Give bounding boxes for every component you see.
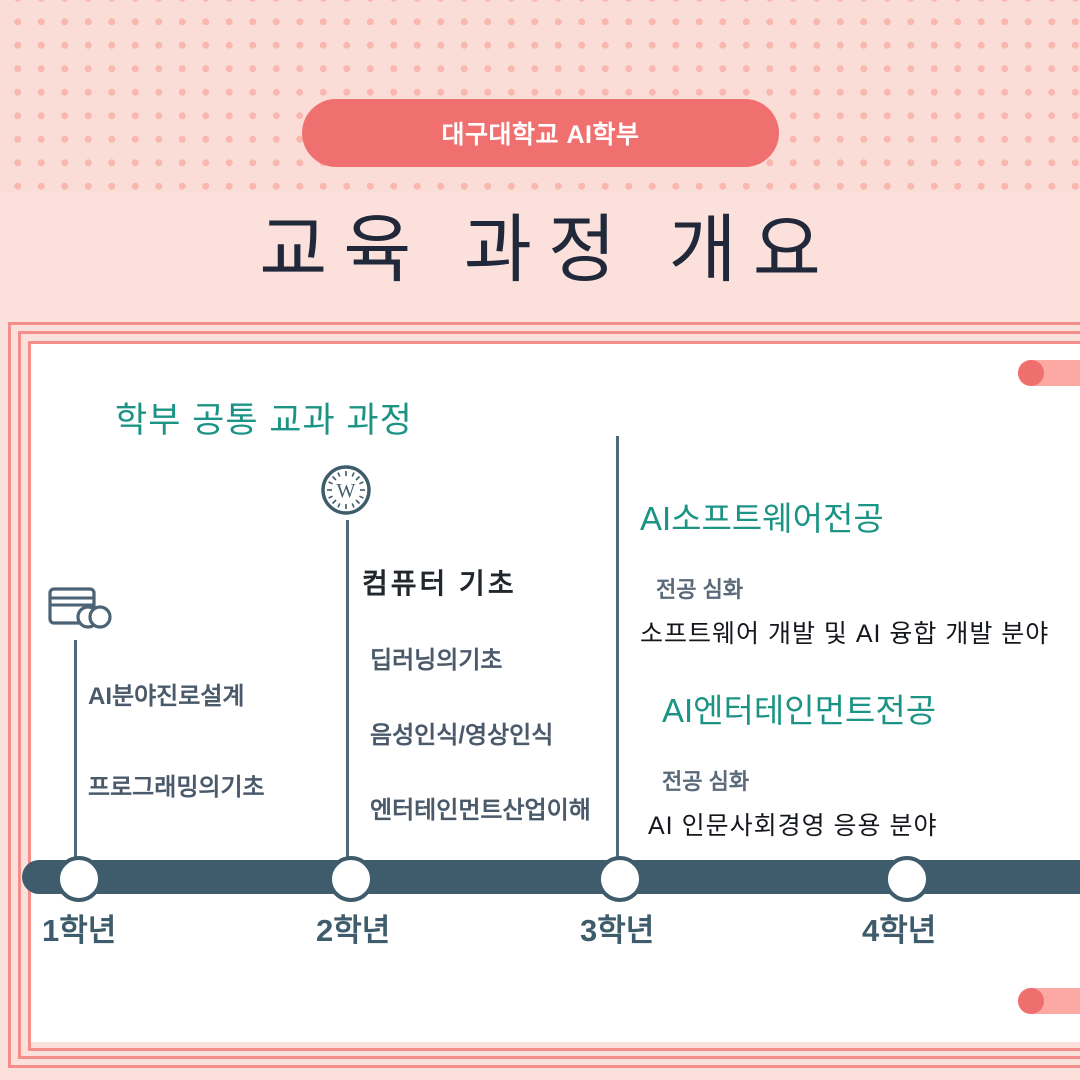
year2-course-item: 음성인식/영상인식 [370,715,591,750]
timeline-year-label: 2학년 [316,905,390,950]
timeline-year-label: 4학년 [862,905,936,950]
decorative-tab-top [1018,360,1080,386]
decorative-tab-bottom [1018,988,1080,1014]
timeline-node-year4[interactable] [884,856,930,902]
decorative-tab-dot-bottom [1018,988,1044,1014]
timeline-node-year3[interactable] [597,856,643,902]
timeline-year-label: 3학년 [580,905,654,950]
department-badge: 대구대학교 AI학부 [302,99,779,167]
major-title: AI소프트웨어전공 [640,492,1049,540]
year2-course-item: 엔터테인먼트산업이해 [370,790,591,825]
major-subtitle: 전공 심화 [662,764,1049,796]
common-curriculum-title: 학부 공통 교과 과정 [115,392,413,443]
timeline-stem-year2 [346,520,349,862]
page-title: 교육 과정 개요 [0,213,1080,287]
year1-course-list: AI분야진로설계 프로그래밍의기초 [88,676,265,858]
timeline-stem-year1 [74,640,77,862]
credit-card-icon [48,585,112,633]
major-tracks: AI소프트웨어전공 전공 심화 소프트웨어 개발 및 AI 융합 개발 분야 A… [640,492,1049,842]
year1-course-item: 프로그래밍의기초 [88,767,265,802]
timeline-node-year2[interactable] [328,856,374,902]
major-description: 소프트웨어 개발 및 AI 융합 개발 분야 [640,614,1049,650]
poster-root: 대구대학교 AI학부 교육 과정 개요 학부 공통 교과 과정 [0,0,1080,1080]
major-block-software: AI소프트웨어전공 전공 심화 소프트웨어 개발 및 AI 융합 개발 분야 [640,492,1049,650]
compass-letter: W [337,480,356,502]
timeline-stem-year3 [616,436,619,860]
year2-course-heading: 컴퓨터 기초 [362,562,591,602]
decorative-tab-dot-top [1018,360,1044,386]
compass-icon: W [320,464,372,516]
major-block-entertainment: AI엔터테인먼트전공 전공 심화 AI 인문사회경영 응용 분야 [640,684,1049,842]
timeline-year-label: 1학년 [42,905,116,950]
year2-course-item: 딥러닝의기초 [370,640,591,675]
year1-course-item: AI분야진로설계 [88,676,265,711]
major-description: AI 인문사회경영 응용 분야 [648,806,1049,842]
year2-course-list: 컴퓨터 기초 딥러닝의기초 음성인식/영상인식 엔터테인먼트산업이해 [362,562,591,865]
department-badge-label: 대구대학교 AI학부 [442,115,640,151]
timeline-node-year1[interactable] [56,856,102,902]
major-subtitle: 전공 심화 [656,572,1049,604]
major-title: AI엔터테인먼트전공 [662,684,1049,732]
